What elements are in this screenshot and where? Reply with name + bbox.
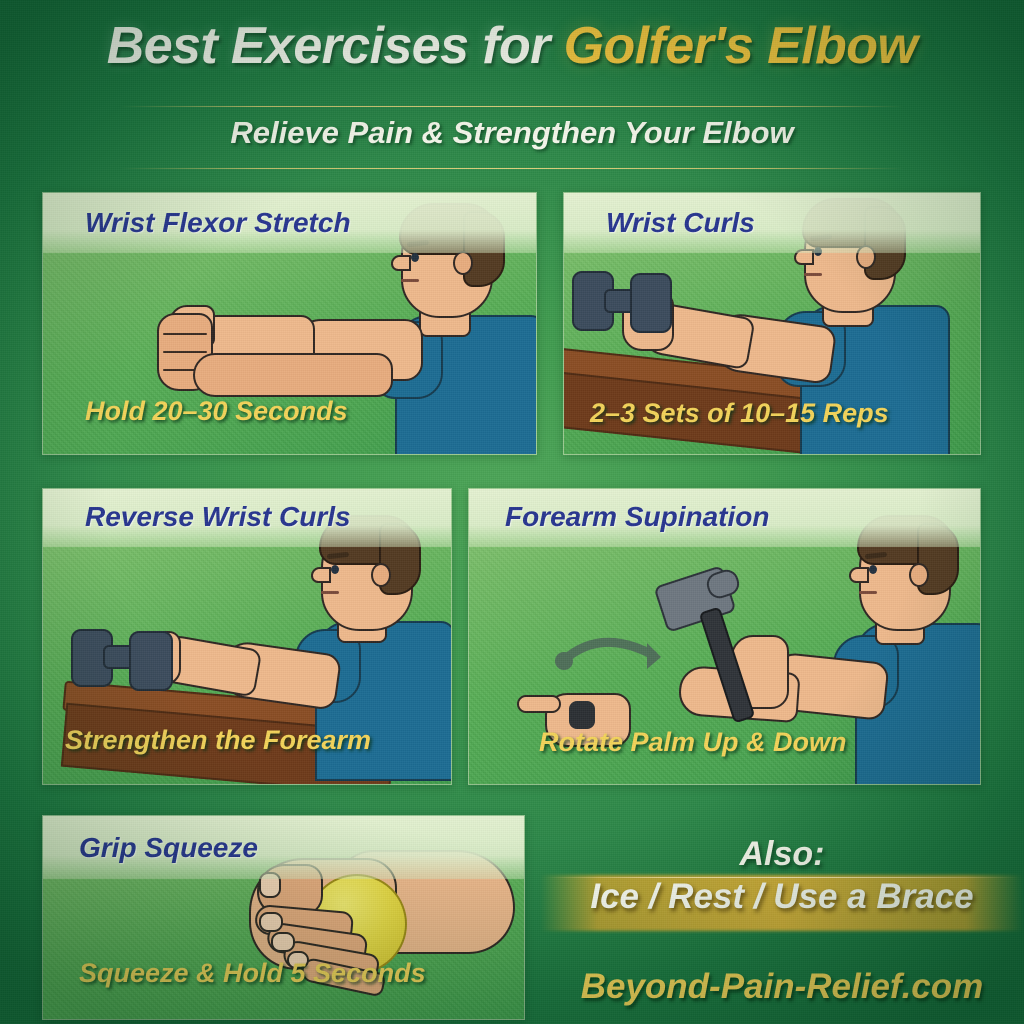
card5-caption: Squeeze & Hold 5 Seconds bbox=[43, 958, 524, 989]
mouth bbox=[859, 591, 877, 594]
ear bbox=[909, 563, 929, 587]
fingernail bbox=[271, 932, 295, 952]
exercise-card-wrist-flexor-stretch[interactable]: Wrist Flexor Stretch Hold 20–30 Seconds bbox=[42, 192, 537, 455]
title-white-part: Best Exercises for bbox=[107, 17, 550, 75]
nose bbox=[391, 255, 411, 271]
exercise-card-grip-squeeze[interactable]: Grip Squeeze Squeeze & Hold 5 Seconds bbox=[42, 815, 525, 1020]
card3-caption: Strengthen the Forearm bbox=[43, 725, 451, 756]
card3-title: Reverse Wrist Curls bbox=[43, 501, 451, 533]
rotation-arrow bbox=[555, 631, 665, 675]
card1-title: Wrist Flexor Stretch bbox=[43, 207, 536, 239]
index-finger bbox=[517, 695, 561, 713]
ear bbox=[453, 251, 473, 275]
eye bbox=[411, 253, 419, 262]
also-label: Also: bbox=[540, 835, 1024, 874]
dumbbell-plate-right bbox=[630, 273, 672, 333]
page-subtitle: Relieve Pain & Strengthen Your Elbow bbox=[0, 115, 1024, 151]
dumbbell-plate-right bbox=[129, 631, 173, 691]
card2-caption: 2–3 Sets of 10–15 Reps bbox=[564, 398, 980, 429]
exercise-card-wrist-curls[interactable]: Wrist Curls 2–3 Sets of 10–15 Reps bbox=[563, 192, 981, 455]
poster-header: Best Exercises for Golfer's Elbow Reliev… bbox=[0, 0, 1024, 178]
tips-text: Ice / Rest / Use a Brace bbox=[540, 877, 1024, 917]
exercise-card-forearm-supination[interactable]: Forearm Supination Rotate Palm Up & Down bbox=[468, 488, 981, 785]
card2-title: Wrist Curls bbox=[564, 207, 980, 239]
eye bbox=[869, 565, 877, 574]
eye bbox=[331, 565, 339, 574]
mouth bbox=[401, 279, 419, 282]
nose bbox=[849, 567, 869, 583]
infographic-poster: Best Exercises for Golfer's Elbow Reliev… bbox=[0, 0, 1024, 1024]
mouth bbox=[804, 273, 822, 276]
exercise-card-reverse-wrist-curls[interactable]: Reverse Wrist Curls Strengthen the Forea… bbox=[42, 488, 452, 785]
header-divider-top bbox=[120, 106, 904, 107]
footer-tips-block: Also: Ice / Rest / Use a Brace Beyond-Pa… bbox=[540, 815, 1024, 1024]
fingernail bbox=[259, 912, 283, 932]
finger-line bbox=[163, 333, 207, 335]
title-gold-part: Golfer's Elbow bbox=[564, 17, 918, 75]
header-divider-bottom bbox=[120, 168, 904, 169]
ear bbox=[371, 563, 391, 587]
nose bbox=[311, 567, 331, 583]
grip-weight bbox=[569, 701, 595, 729]
lower-forearm bbox=[193, 353, 393, 397]
card5-title: Grip Squeeze bbox=[43, 832, 524, 864]
card1-caption: Hold 20–30 Seconds bbox=[43, 396, 536, 427]
mouth bbox=[321, 591, 339, 594]
finger-line bbox=[163, 351, 207, 353]
card4-title: Forearm Supination bbox=[469, 501, 980, 533]
page-title: Best Exercises for Golfer's Elbow bbox=[0, 19, 1024, 74]
website-url[interactable]: Beyond-Pain-Relief.com bbox=[540, 967, 1024, 1007]
rotation-arrow-icon bbox=[555, 631, 665, 675]
card4-caption: Rotate Palm Up & Down bbox=[469, 727, 980, 758]
